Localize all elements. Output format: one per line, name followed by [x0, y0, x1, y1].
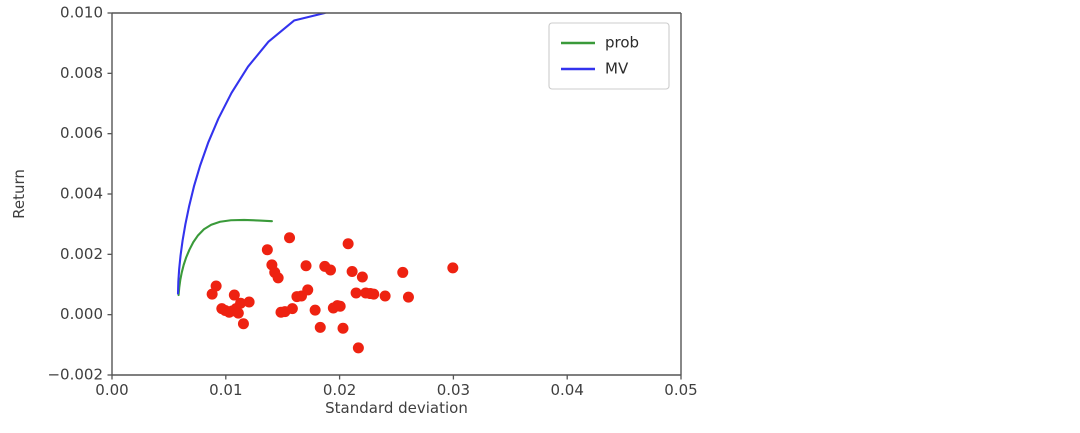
x-tick-label: 0.05 — [664, 381, 697, 399]
scatter-point — [351, 287, 362, 298]
scatter-point — [244, 296, 255, 307]
scatter-point — [284, 232, 295, 243]
scatter-point — [347, 266, 358, 277]
y-tick-label: 0.010 — [60, 4, 103, 22]
legend-label-prob: prob — [605, 34, 639, 52]
x-tick-label: 0.02 — [323, 381, 356, 399]
scatter-point — [403, 292, 414, 303]
scatter-point — [301, 260, 312, 271]
y-tick-label: 0.006 — [60, 124, 103, 142]
scatter-point — [262, 244, 273, 255]
scatter-point — [302, 284, 313, 295]
x-tick-label: 0.01 — [209, 381, 242, 399]
scatter-point — [310, 305, 321, 316]
scatter-point — [287, 303, 298, 314]
scatter-point — [368, 289, 379, 300]
chart-figure: −0.0020.0000.0020.0040.0060.0080.0100.00… — [0, 0, 1080, 433]
data-series-group — [178, 13, 458, 353]
plot-area — [178, 13, 458, 353]
scatter-point — [273, 272, 284, 283]
scatter-point — [380, 290, 391, 301]
y-tick-label: 0.004 — [60, 185, 103, 203]
scatter-point — [353, 342, 364, 353]
scatter-point — [343, 238, 354, 249]
x-tick-label: 0.03 — [437, 381, 470, 399]
x-tick-label: 0.00 — [95, 381, 128, 399]
scatter-point — [233, 308, 244, 319]
chart-legend: probMV — [549, 23, 669, 89]
scatter-point — [397, 267, 408, 278]
legend-label-MV: MV — [605, 60, 629, 78]
x-tick-label: 0.04 — [550, 381, 583, 399]
scatter-point — [211, 281, 222, 292]
scatter-point — [338, 323, 349, 334]
y-tick-label: 0.008 — [60, 64, 103, 82]
y-tick-label: 0.002 — [60, 245, 103, 263]
scatter-point — [357, 271, 368, 282]
scatter-point — [315, 322, 326, 333]
scatter-series-assets — [207, 232, 459, 353]
scatter-point — [325, 265, 336, 276]
scatter-point — [447, 262, 458, 273]
scatter-plot: −0.0020.0000.0020.0040.0060.0080.0100.00… — [0, 0, 1080, 433]
scatter-point — [335, 301, 346, 312]
scatter-point — [238, 318, 249, 329]
x-axis-title: Standard deviation — [325, 399, 468, 417]
series-line-MV — [178, 13, 325, 294]
y-tick-label: 0.000 — [60, 305, 103, 323]
series-line-prob — [179, 220, 272, 295]
y-axis-title: Return — [10, 169, 28, 219]
